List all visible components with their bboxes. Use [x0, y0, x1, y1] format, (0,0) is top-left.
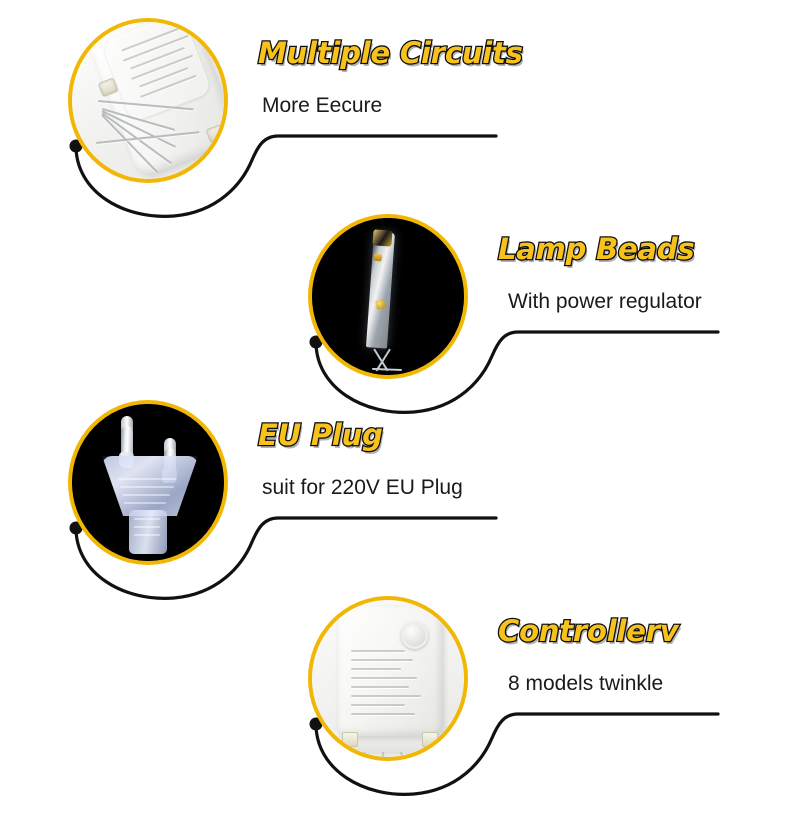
feature-image-circle-eu-plug — [68, 400, 228, 565]
feature-media-lamp-beads — [308, 214, 468, 379]
lamp-bead-photo — [312, 218, 464, 375]
feature-block-controller: Controllerv 8 models twinkle — [0, 578, 800, 778]
feature-image-circle-controller — [308, 596, 468, 761]
feature-title: Controllerv — [498, 616, 679, 646]
controller-box-photo — [312, 600, 464, 757]
feature-subtitle: suit for 220V EU Plug — [258, 450, 463, 499]
feature-block-lamp-beads: Lamp Beads With power regulator — [0, 196, 800, 396]
feature-title: Multiple Circuits — [258, 38, 523, 68]
feature-media-eu-plug — [68, 400, 228, 565]
feature-text-eu-plug: EU Plug suit for 220V EU Plug — [258, 420, 463, 500]
feature-image-circle-lamp-beads — [308, 214, 468, 379]
feature-block-eu-plug: EU Plug suit for 220V EU Plug — [0, 382, 800, 582]
power-adapter-photo — [72, 22, 224, 179]
feature-media-multiple-circuits — [68, 18, 228, 183]
feature-media-controller — [308, 596, 468, 761]
feature-subtitle: With power regulator — [498, 264, 702, 313]
infographic-board: Multiple Circuits More Eecure — [0, 0, 800, 800]
feature-subtitle: More Eecure — [258, 68, 523, 117]
feature-title: EU Plug — [258, 420, 463, 450]
feature-block-multiple-circuits: Multiple Circuits More Eecure — [0, 0, 800, 200]
feature-text-controller: Controllerv 8 models twinkle — [498, 616, 679, 696]
feature-text-lamp-beads: Lamp Beads With power regulator — [498, 234, 702, 314]
feature-title: Lamp Beads — [498, 234, 702, 264]
feature-image-circle-multiple-circuits — [68, 18, 228, 183]
feature-text-multiple-circuits: Multiple Circuits More Eecure — [258, 38, 523, 118]
feature-subtitle: 8 models twinkle — [498, 646, 679, 695]
eu-plug-photo — [72, 404, 224, 561]
